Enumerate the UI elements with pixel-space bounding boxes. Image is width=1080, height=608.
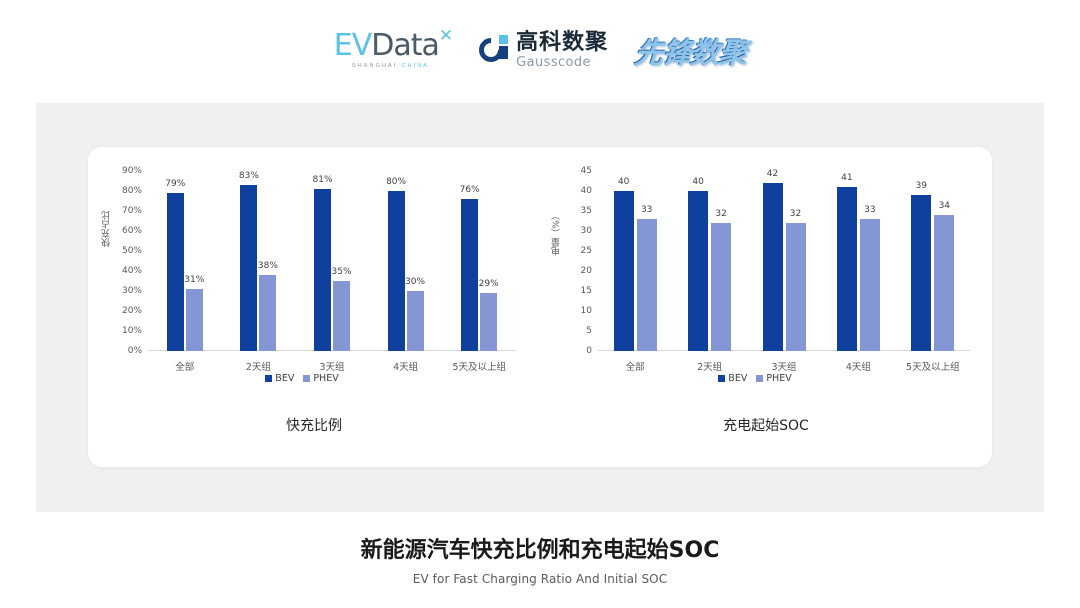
bar-value-label: 80% [386,177,406,187]
legend-swatch-phev-icon [303,375,310,382]
bar-value-label: 33 [641,205,652,215]
y-axis-tick: 5 [544,326,592,336]
x-axis-tick: 2天组 [246,359,271,373]
bar-phev [259,275,276,351]
plot-area-right [598,171,970,351]
gausscode-wordmark: 高科数聚 Gausscode [516,32,608,69]
x-axis-tick: 3天组 [319,359,344,373]
y-axis-tick: 80% [92,186,142,196]
bar-value-label: 31% [184,275,204,285]
plot-wrap-right: 0510152025303540454033全部40322天组42323天组41… [540,147,982,391]
y-axis-tick: 30% [92,286,142,296]
bar-phev [480,293,497,351]
bar-phev [186,289,203,351]
bar-value-label: 33 [864,205,875,215]
bar-phev [333,281,350,351]
y-axis-tick: 70% [92,206,142,216]
bar-value-label: 83% [239,171,259,181]
bar-value-label: 41 [841,173,852,183]
bar-bev [763,183,783,351]
legend-item-bev: BEV [718,373,747,384]
bar-value-label: 29% [479,279,499,289]
bar-value-label: 32 [790,209,801,219]
y-axis-tick: 40% [92,266,142,276]
bar-phev [637,219,657,351]
bar-value-label: 76% [460,185,480,195]
legend-label-bev: BEV [275,373,294,384]
gausscode-cn-text: 高科数聚 [516,32,608,54]
x-axis-tick: 全部 [626,359,645,373]
chart-caption-left: 快充比例 [88,415,540,435]
x-axis-tick: 3天组 [771,359,796,373]
bar-phev [934,215,954,351]
y-axis-tick: 0 [544,346,592,356]
gausscode-en-text: Gausscode [516,56,608,69]
x-axis-tick: 全部 [175,359,194,373]
bar-bev [911,195,931,351]
bar-value-label: 30% [405,277,425,287]
y-axis-tick: 60% [92,226,142,236]
chart-fast-charging-ratio: 快充占比 0%10%20%30%40%50%60%70%80%90%79%31%… [88,147,540,467]
bar-bev [614,191,634,351]
page-subtitle: EV for Fast Charging Ratio And Initial S… [0,572,1080,586]
legend-left: BEV PHEV [88,373,516,384]
y-axis-tick: 30 [544,226,592,236]
y-axis-tick: 25 [544,246,592,256]
chart-caption-right: 充电起始SOC [540,415,992,435]
evdata-tagline-city: SHANGHAI [352,63,398,69]
x-mark-icon: ✕ [439,27,453,44]
bar-value-label: 40 [618,177,629,187]
plot-wrap-left: 0%10%20%30%40%50%60%70%80%90%79%31%全部83%… [88,147,528,391]
x-axis-tick: 5天及以上组 [906,359,960,373]
y-axis-tick: 20 [544,266,592,276]
bar-value-label: 81% [312,175,332,185]
evdata-tagline-country: CHINA [401,63,429,69]
evdata-ev-text: EV [334,31,371,61]
x-axis-tick: 5天及以上组 [452,359,506,373]
y-axis-tick: 10 [544,306,592,316]
legend-label-phev: PHEV [313,373,338,384]
y-axis-tick: 10% [92,326,142,336]
bar-bev [461,199,478,351]
y-axis-tick: 0% [92,346,142,356]
bar-phev [407,291,424,351]
bar-phev [860,219,880,351]
legend-item-phev: PHEV [303,373,338,384]
x-axis-tick: 4天组 [393,359,418,373]
bar-value-label: 38% [258,261,278,271]
gausscode-logo: 高科数聚 Gausscode [479,32,608,69]
bar-phev [711,223,731,351]
legend-label-bev: BEV [728,373,747,384]
y-axis-tick: 20% [92,306,142,316]
legend-swatch-bev-icon [718,375,725,382]
bar-bev [314,189,331,351]
legend-label-phev: PHEV [766,373,791,384]
y-axis-tick: 40 [544,186,592,196]
bar-bev [837,187,857,351]
evdata-logo: EV Data ✕ SHANGHAI CHINA [334,31,453,69]
footer: 新能源汽车快充比例和充电起始SOC EV for Fast Charging R… [0,532,1080,586]
bar-value-label: 40 [692,177,703,187]
evdata-tagline: SHANGHAI CHINA [352,63,429,69]
bar-bev [167,193,184,351]
legend-right: BEV PHEV [540,373,970,384]
y-axis-tick: 35 [544,206,592,216]
charts-card: 快充占比 0%10%20%30%40%50%60%70%80%90%79%31%… [88,147,992,467]
evdata-data-text: Data [371,31,439,61]
y-axis-tick: 15 [544,286,592,296]
bar-value-label: 35% [331,267,351,277]
bar-value-label: 79% [165,179,185,189]
bar-bev [388,191,405,351]
chart-initial-soc: 电量（%） 0510152025303540454033全部40322天组423… [540,147,992,467]
y-axis-tick: 90% [92,166,142,176]
bar-value-label: 42 [767,169,778,179]
legend-swatch-phev-icon [756,375,763,382]
legend-item-phev: PHEV [756,373,791,384]
y-axis-tick: 45 [544,166,592,176]
page-title: 新能源汽车快充比例和充电起始SOC [0,532,1080,564]
x-axis-tick: 4天组 [846,359,871,373]
bar-value-label: 32 [715,209,726,219]
bar-value-label: 34 [939,201,950,211]
legend-item-bev: BEV [265,373,294,384]
bar-bev [688,191,708,351]
plot-area-left [148,171,516,351]
legend-swatch-bev-icon [265,375,272,382]
logo-bar: EV Data ✕ SHANGHAI CHINA 高科数聚 Gausscode … [0,24,1080,76]
bar-value-label: 39 [916,181,927,191]
xianfeng-logo: 先锋数聚 [632,29,748,71]
x-axis-tick: 2天组 [697,359,722,373]
bar-phev [786,223,806,351]
y-axis-tick: 50% [92,246,142,256]
evdata-wordmark: EV Data ✕ [334,31,453,61]
bar-bev [240,185,257,351]
g-circle-mark-icon [479,35,509,65]
